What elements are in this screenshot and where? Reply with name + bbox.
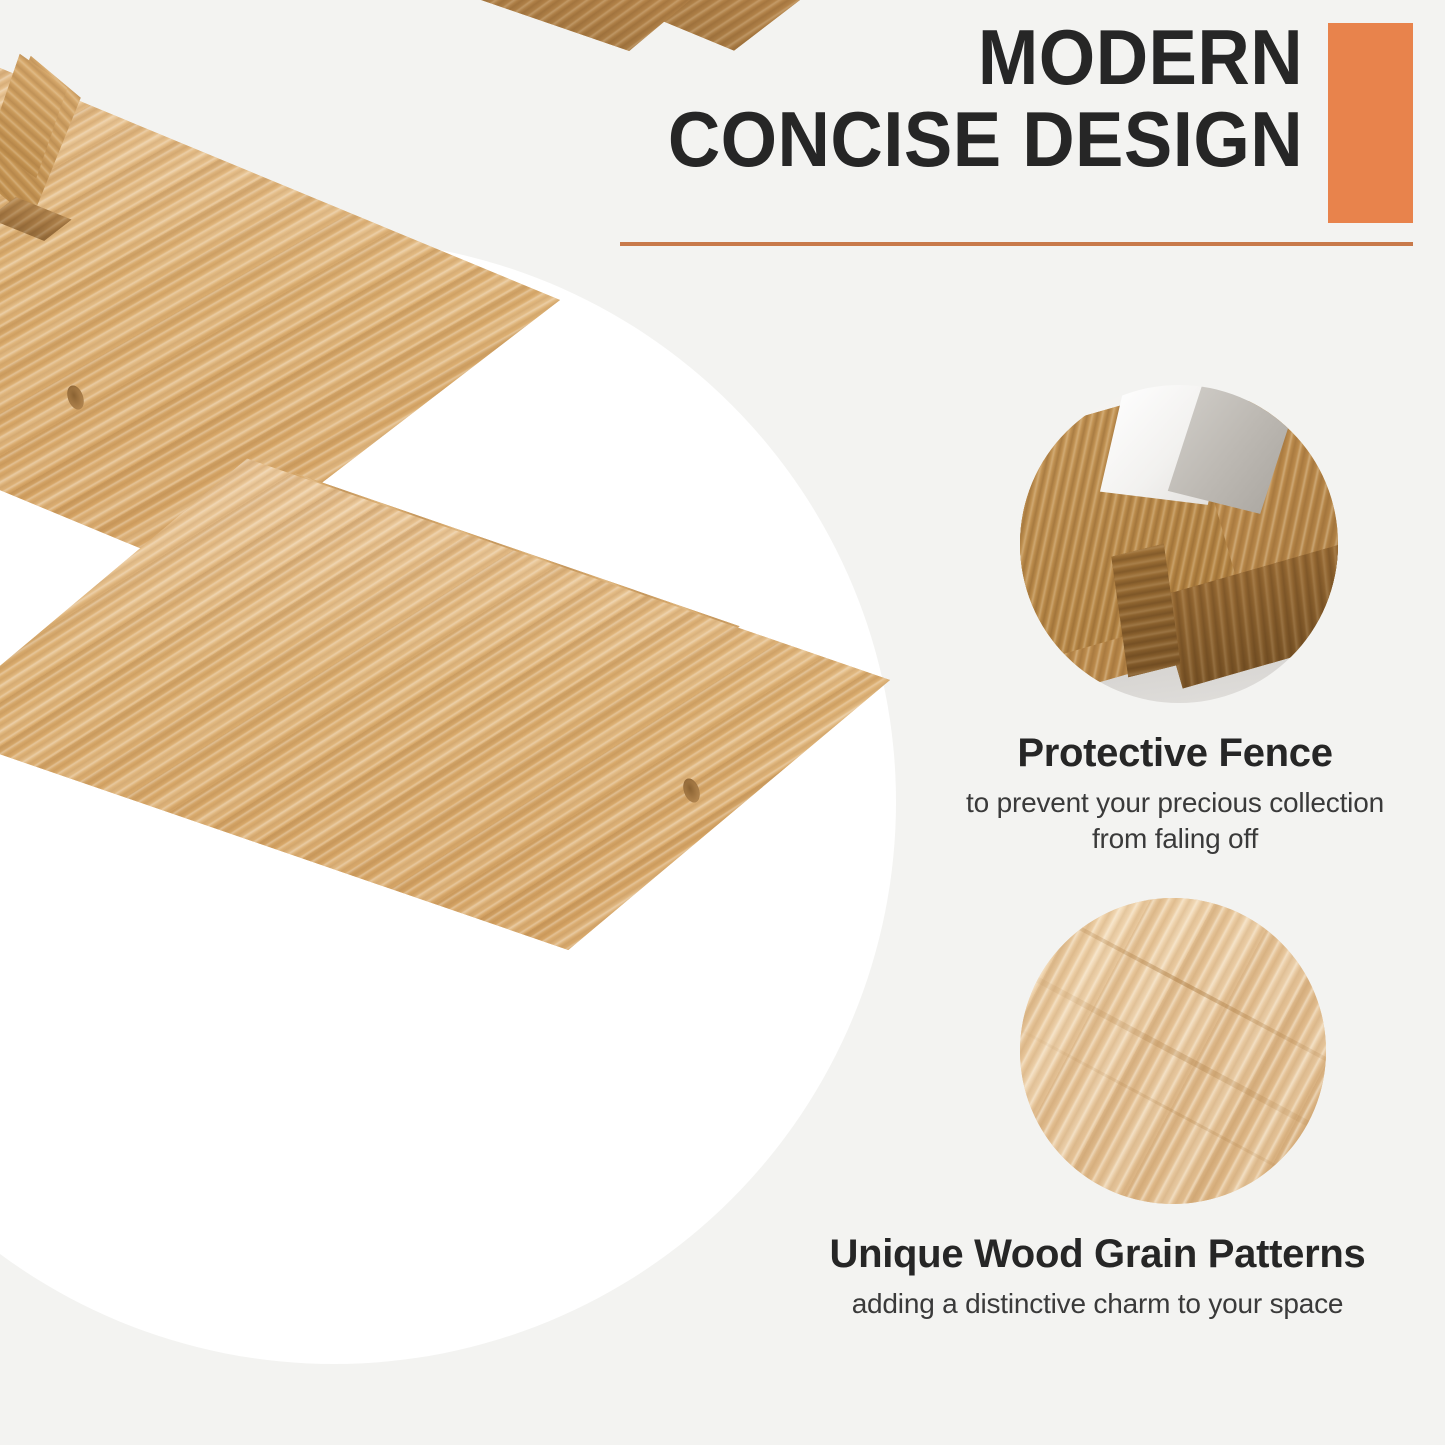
product-feature-image: MODERN CONCISE DESIGN bbox=[0, 0, 1445, 1445]
feature-protective-fence-subtitle-line-2: from faling off bbox=[935, 821, 1415, 857]
feature-wood-grain: Unique Wood Grain Patterns adding a dist… bbox=[775, 898, 1420, 1328]
shelf-lower bbox=[0, 0, 690, 164]
feature-protective-fence-subtitle-line-1: to prevent your precious collection bbox=[935, 785, 1415, 821]
accent-bar bbox=[1328, 23, 1413, 223]
shelf-lower-front-lip bbox=[0, 0, 690, 51]
feature-protective-fence-title: Protective Fence bbox=[935, 730, 1415, 776]
shelf-corner-closeup-photo bbox=[1020, 385, 1338, 703]
feature-protective-fence: Protective Fence to prevent your preciou… bbox=[935, 385, 1415, 865]
feature-wood-grain-subtitle-line-1: adding a distinctive charm to your space bbox=[775, 1286, 1420, 1322]
feature-wood-grain-title: Unique Wood Grain Patterns bbox=[775, 1231, 1420, 1277]
wood-grain-texture-photo bbox=[1020, 898, 1326, 1204]
shelf-lower-left-end-cap bbox=[0, 54, 67, 178]
